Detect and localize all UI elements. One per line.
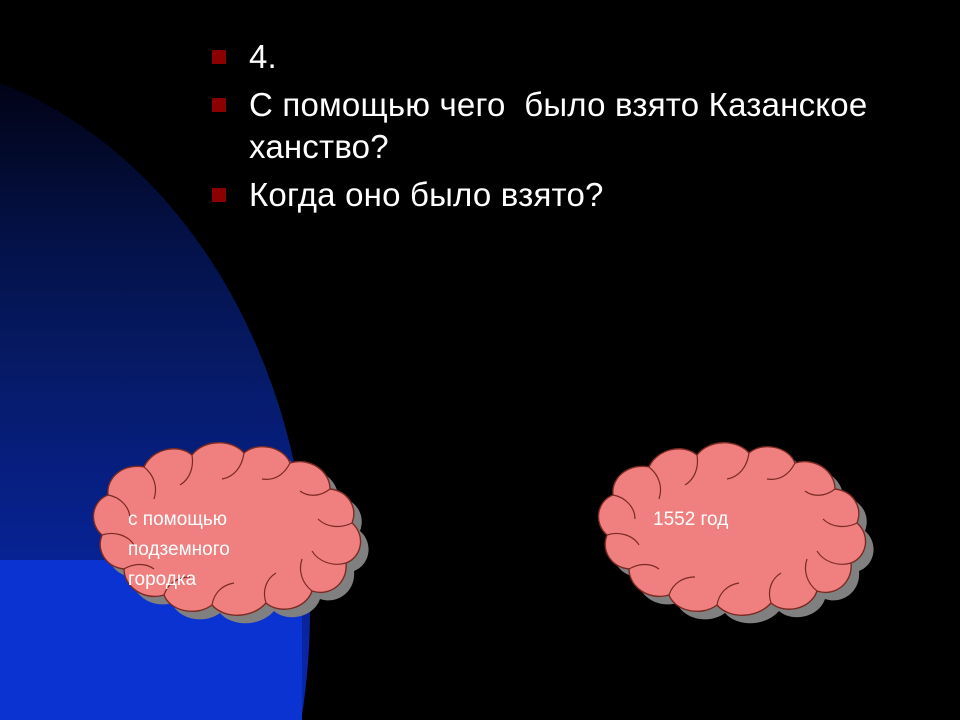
square-bullet-icon — [212, 50, 226, 64]
bullet-item-label: Когда оно было взято? — [249, 174, 912, 216]
bullet-item-1: С помощью чего было взято Казанское ханс… — [212, 84, 912, 168]
cloud-label-text: с помощью подземного городка — [128, 505, 368, 595]
bullet-item-label: 4. — [249, 36, 912, 78]
cloud-shape-icon — [585, 443, 905, 658]
bullet-item-label: С помощью чего было взято Казанское ханс… — [249, 84, 912, 168]
cloud-label-text: 1552 год — [653, 505, 883, 535]
answer-cloud-method: с помощью подземного городка — [80, 443, 400, 658]
presentation-slide: 4. С помощью чего было взято Казанское х… — [0, 0, 960, 720]
bullet-item-2: Когда оно было взято? — [212, 174, 912, 216]
bullet-list: 4. С помощью чего было взято Казанское х… — [212, 36, 912, 222]
answer-cloud-year: 1552 год — [585, 443, 905, 658]
bullet-item-0: 4. — [212, 36, 912, 78]
square-bullet-icon — [212, 188, 226, 202]
square-bullet-icon — [212, 98, 226, 112]
